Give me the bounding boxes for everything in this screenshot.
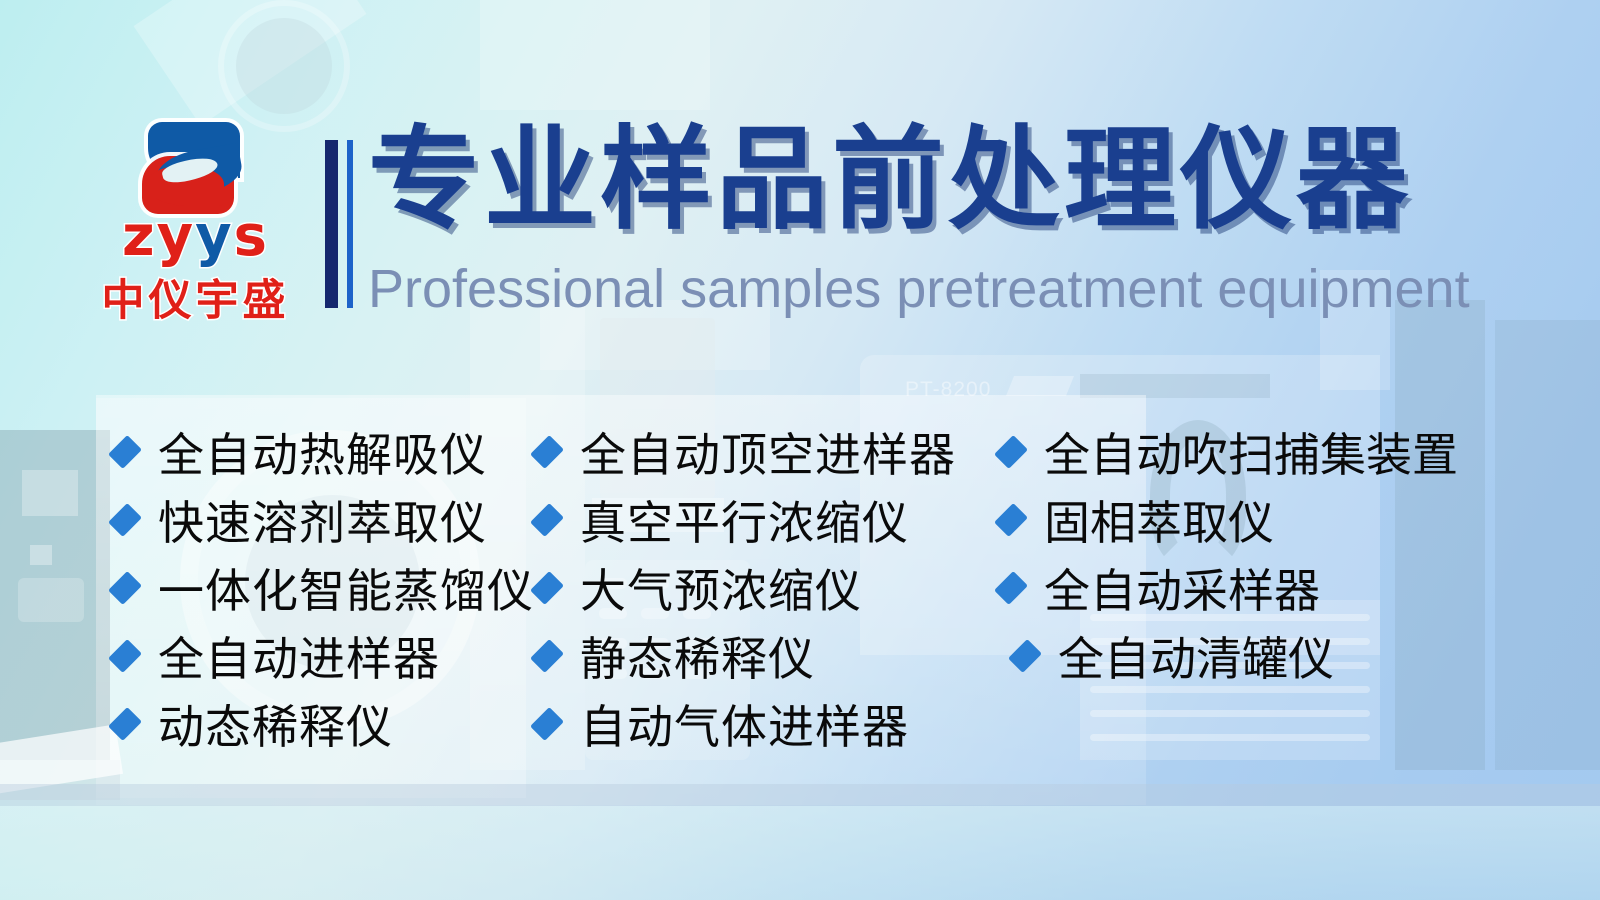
product-name: 全自动顶空进样器 <box>580 419 956 485</box>
list-item[interactable]: 自动气体进样器 <box>534 690 956 758</box>
product-name: 全自动清罐仪 <box>1058 623 1334 689</box>
divider-bar-thin <box>347 140 353 308</box>
product-column-3: 全自动吹扫捕集装置 固相萃取仪 全自动采样器 全自动清罐仪 <box>998 418 1458 690</box>
list-item[interactable]: 全自动热解吸仪 <box>112 418 534 486</box>
diamond-bullet-icon <box>994 503 1028 537</box>
background-instrument-label: PT-8200 <box>905 378 991 402</box>
logo-chinese-name: 中仪宇盛 <box>88 266 303 328</box>
diamond-bullet-icon <box>530 571 564 605</box>
company-logo: zyys 中仪宇盛 <box>88 120 303 315</box>
product-name: 大气预浓缩仪 <box>580 555 862 621</box>
product-name: 全自动吹扫捕集装置 <box>1044 419 1458 485</box>
list-item[interactable]: 全自动顶空进样器 <box>534 418 956 486</box>
banner-header: zyys 中仪宇盛 专业样品前处理仪器 Professional samples… <box>0 0 1600 330</box>
diamond-bullet-icon <box>530 707 564 741</box>
divider-bar-thick <box>325 140 338 308</box>
list-item[interactable]: 固相萃取仪 <box>998 486 1458 554</box>
list-item[interactable]: 动态稀释仪 <box>112 690 534 758</box>
diamond-bullet-icon <box>994 435 1028 469</box>
product-list: 全自动热解吸仪 快速溶剂萃取仪 一体化智能蒸馏仪 全自动进样器 动态稀释仪 <box>0 418 1600 808</box>
list-item[interactable]: 一体化智能蒸馏仪 <box>112 554 534 622</box>
list-item[interactable]: 大气预浓缩仪 <box>534 554 956 622</box>
diamond-bullet-icon <box>530 639 564 673</box>
list-item[interactable]: 全自动采样器 <box>998 554 1458 622</box>
product-name: 固相萃取仪 <box>1044 487 1274 553</box>
list-item[interactable]: 全自动进样器 <box>112 622 534 690</box>
product-column-2: 全自动顶空进样器 真空平行浓缩仪 大气预浓缩仪 静态稀释仪 自动气体进样器 <box>534 418 956 758</box>
diamond-bullet-icon <box>1008 639 1042 673</box>
list-item[interactable]: 全自动清罐仪 <box>998 622 1458 690</box>
diamond-bullet-icon <box>108 707 142 741</box>
diamond-bullet-icon <box>108 571 142 605</box>
product-name: 动态稀释仪 <box>158 691 393 757</box>
page-title: 专业样品前处理仪器 <box>368 122 1412 240</box>
product-name: 全自动进样器 <box>158 623 440 689</box>
promotional-banner: PT-8200 zyys <box>0 0 1600 900</box>
product-name: 自动气体进样器 <box>580 691 909 757</box>
list-item[interactable]: 真空平行浓缩仪 <box>534 486 956 554</box>
diamond-bullet-icon <box>530 503 564 537</box>
product-column-1: 全自动热解吸仪 快速溶剂萃取仪 一体化智能蒸馏仪 全自动进样器 动态稀释仪 <box>112 418 534 758</box>
diamond-bullet-icon <box>530 435 564 469</box>
list-item[interactable]: 静态稀释仪 <box>534 622 956 690</box>
product-name: 一体化智能蒸馏仪 <box>158 555 534 621</box>
product-name: 全自动采样器 <box>1044 555 1320 621</box>
diamond-bullet-icon <box>108 503 142 537</box>
list-item[interactable]: 快速溶剂萃取仪 <box>112 486 534 554</box>
diamond-bullet-icon <box>108 639 142 673</box>
diamond-bullet-icon <box>108 435 142 469</box>
logo-wordmark: zyys <box>88 206 303 268</box>
page-subtitle: Professional samples pretreatment equipm… <box>368 258 1470 320</box>
list-item[interactable]: 全自动吹扫捕集装置 <box>998 418 1458 486</box>
product-name: 静态稀释仪 <box>580 623 815 689</box>
product-name: 全自动热解吸仪 <box>158 419 487 485</box>
diamond-bullet-icon <box>994 571 1028 605</box>
product-name: 真空平行浓缩仪 <box>580 487 909 553</box>
product-name: 快速溶剂萃取仪 <box>158 487 487 553</box>
